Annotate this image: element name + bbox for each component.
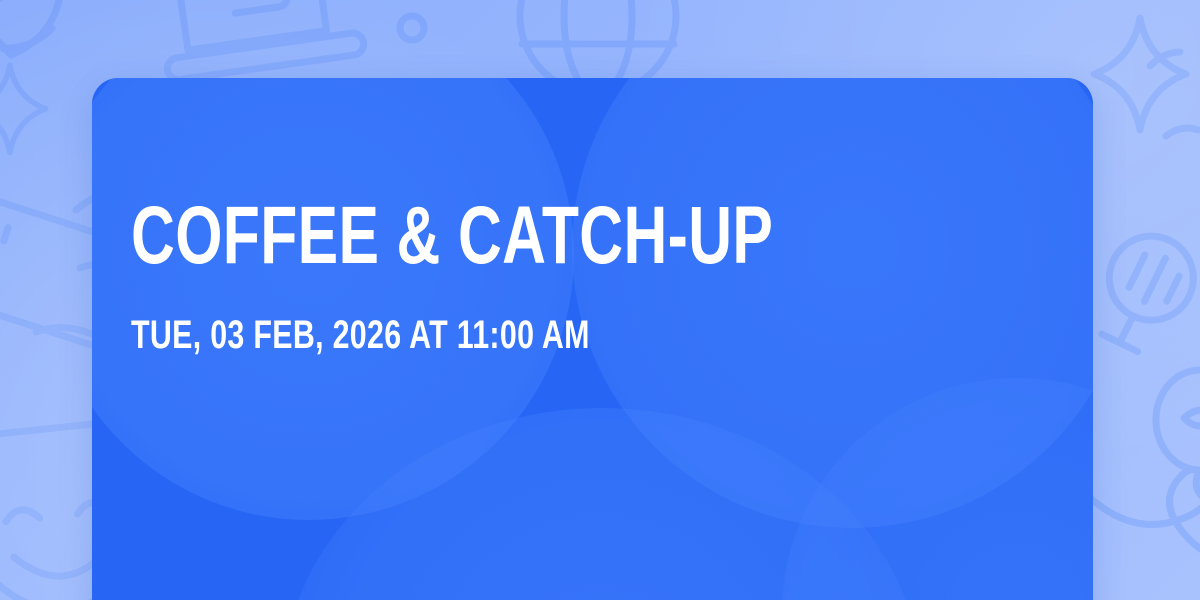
sparkle-icon: [1094, 18, 1186, 130]
confetti-icon: [1088, 469, 1200, 559]
card-decor-circle-bottom-right: [782, 378, 1093, 600]
balloon-icon: [1156, 370, 1200, 528]
laptop-icon: [155, 0, 366, 81]
party-popper-icon: [0, 0, 73, 61]
card-decor-circle-bottom: [282, 408, 922, 600]
event-card: COFFEE & CATCH-UP TUE, 03 FEB, 2026 AT 1…: [92, 78, 1093, 600]
confetti-icon: [1150, 52, 1198, 136]
event-banner: COFFEE & CATCH-UP TUE, 03 FEB, 2026 AT 1…: [0, 0, 1200, 600]
sparkle-icon: [0, 65, 46, 152]
event-text-block: COFFEE & CATCH-UP TUE, 03 FEB, 2026 AT 1…: [131, 198, 1045, 355]
event-datetime: TUE, 03 FEB, 2026 AT 11:00 AM: [131, 315, 826, 355]
microphone-icon: [1082, 222, 1200, 361]
event-title: COFFEE & CATCH-UP: [131, 198, 807, 273]
dot-icon: [400, 16, 424, 40]
